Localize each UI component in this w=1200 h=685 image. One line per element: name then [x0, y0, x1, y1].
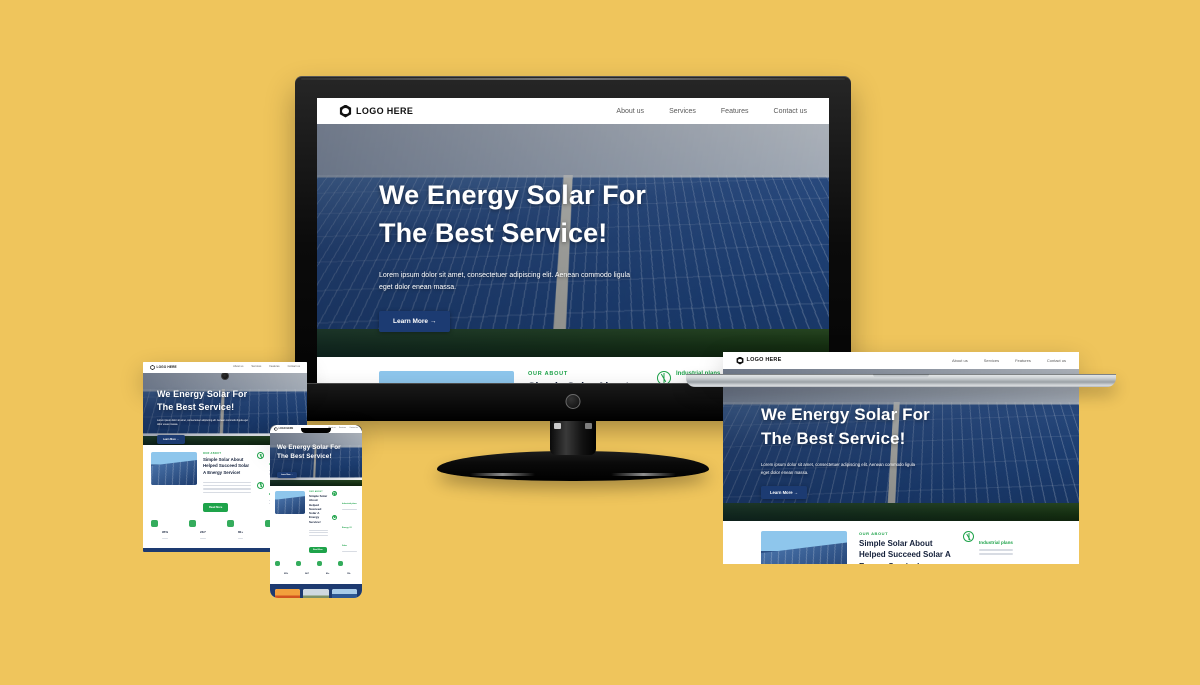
nav-link-about-us[interactable]: About us: [952, 359, 968, 363]
about-heading: Simple Solar About Helped Succeed Solar …: [859, 538, 951, 564]
laptop-lid: LOGO HERE About us Services Features Con…: [723, 352, 1079, 370]
monitor-bezel: LOGO HERE About us Services Features Con…: [295, 76, 851, 383]
card-image: [332, 589, 357, 598]
leaf-circle-icon: [657, 371, 671, 383]
site-brand[interactable]: LOGO HERE: [274, 427, 293, 431]
hero-heading-line-2: The Best Service!: [379, 214, 767, 252]
about-eyebrow: OUR ABOUT: [859, 531, 951, 536]
stat-item: 15k: [338, 561, 357, 579]
solar-panel-icon: [275, 561, 280, 566]
stat-value: 95%: [162, 530, 168, 534]
leaf-circle-icon: [332, 491, 337, 496]
leaf-circle-icon: [257, 482, 264, 489]
laptop-screen: LOGO HERE About us Services Features Con…: [723, 352, 1079, 564]
support-icon: [189, 520, 196, 527]
hero-heading-line-1: We Energy Solar For: [277, 444, 355, 453]
nav-links: About us Services Features Contact us: [616, 108, 807, 115]
about-image: [379, 371, 514, 383]
hero-section: We Energy Solar For The Best Service! Lo…: [317, 124, 829, 357]
about-feature-title: Energy Of Solar: [342, 527, 352, 547]
about-feature-item: Industrial plans: [963, 531, 1041, 557]
nav-link-services[interactable]: Services: [251, 366, 261, 369]
hero-heading: We Energy Solar For The Best Service!: [761, 403, 1041, 451]
leaf-circle-icon: [963, 531, 974, 542]
about-body-placeholder: [203, 482, 251, 493]
nav-link-contact-us[interactable]: Contact us: [774, 108, 807, 115]
hero-section: We Energy Solar For The Best Service! Le…: [270, 433, 362, 486]
monitor-screen: LOGO HERE About us Services Features Con…: [317, 98, 829, 383]
stats-strip: 95% 24/7 80+ 15k: [270, 561, 362, 584]
nav-link-features[interactable]: Features: [269, 366, 279, 369]
tablet-device: LOGO HERE About us Services Features Con…: [143, 362, 307, 383]
about-read-more-button[interactable]: Read More: [203, 503, 228, 512]
solar-panel-icon: [151, 520, 158, 527]
cards-band: Electrical Of Energy Energy Of Industria…: [270, 584, 362, 598]
nav-links: About us Services Contact us: [328, 428, 358, 430]
about-eyebrow: OUR ABOUT: [528, 371, 643, 377]
stat-item: 95%: [151, 520, 185, 541]
nav-link-about-us[interactable]: About us: [616, 108, 644, 115]
nav-links: About us Services Features Contact us: [233, 366, 300, 369]
stat-value: 24/7: [200, 530, 206, 534]
nav-link-contact-us[interactable]: Contact us: [288, 366, 300, 369]
content-card[interactable]: Electrical Of Energy: [275, 589, 300, 598]
hero-copy: We Energy Solar For The Best Service! Lo…: [723, 369, 1079, 499]
hero-heading-line-1: We Energy Solar For: [379, 176, 767, 214]
leaf-circle-icon: [257, 452, 264, 459]
phone-bezel: LOGO HERE About us Services Contact us: [270, 425, 362, 437]
hero-learn-more-button[interactable]: Learn More →: [761, 486, 807, 499]
hero-learn-more-button[interactable]: Learn More →: [157, 435, 185, 444]
about-eyebrow: OUR ABOUT: [309, 491, 328, 493]
site-navbar: LOGO HERE About us Services Features Con…: [723, 352, 1079, 369]
hero-paragraph: Lorem ipsum dolor sit amet, consectetuer…: [761, 461, 921, 476]
hero-learn-more-button[interactable]: Learn More →: [277, 472, 297, 478]
stat-item: 80+: [227, 520, 261, 541]
hero-paragraph: Lorem ipsum dolor sit amet, consectetuer…: [157, 419, 249, 427]
site-navbar: LOGO HERE About us Services Features Con…: [317, 98, 829, 124]
about-image: [761, 531, 847, 564]
hero-section: We Energy Solar For The Best Service! Lo…: [723, 369, 1079, 521]
brand-name: LOGO HERE: [157, 366, 177, 369]
content-card[interactable]: Designer Of Solar: [332, 589, 357, 598]
hero-heading-line-1: We Energy Solar For: [157, 388, 293, 401]
support-icon: [296, 561, 301, 566]
content-card[interactable]: Energy Of Industrial: [303, 589, 328, 598]
site-brand[interactable]: LOGO HERE: [736, 357, 781, 365]
about-feature-item: Industrial plans: [332, 491, 357, 512]
hero-heading: We Energy Solar For The Best Service!: [277, 444, 355, 462]
stat-item: 24/7: [296, 561, 315, 579]
stat-item: 24/7: [189, 520, 223, 541]
phone-screen: LOGO HERE About us Services Contact us: [270, 425, 362, 598]
hero-heading-line-2: The Best Service!: [277, 453, 355, 462]
about-feature-list: Industrial plans: [963, 531, 1041, 564]
hero-learn-more-button[interactable]: Learn More →: [379, 311, 450, 332]
monitor-stand-base: [437, 451, 709, 481]
smartphone-device: LOGO HERE About us Services Contact us: [270, 425, 362, 437]
about-eyebrow: OUR ABOUT: [203, 452, 251, 455]
about-feature-text: [979, 549, 1013, 555]
stat-item: 80+: [317, 561, 336, 579]
about-feature-title: Industrial plans: [979, 540, 1013, 545]
hexagon-logo-icon: [274, 427, 278, 431]
about-feature-list: Industrial plans Energy Of Solar: [332, 491, 357, 556]
about-body-placeholder: [309, 530, 328, 536]
hero-copy: We Energy Solar For The Best Service! Le…: [270, 433, 362, 480]
nav-link-contact-us[interactable]: Contact us: [1047, 359, 1066, 363]
hero-heading: We Energy Solar For The Best Service!: [157, 388, 293, 414]
nav-link-services[interactable]: Services: [984, 359, 999, 363]
tablet-bezel: LOGO HERE About us Services Features Con…: [143, 362, 307, 383]
mockup-stage: LOGO HERE About us Services Features Con…: [0, 0, 1200, 685]
hexagon-logo-icon: [150, 365, 155, 370]
about-section: OUR ABOUT Simple Solar About Helped Succ…: [270, 486, 362, 561]
hero-heading: We Energy Solar For The Best Service!: [379, 176, 767, 253]
site-brand[interactable]: LOGO HERE: [339, 105, 413, 118]
hexagon-logo-icon: [736, 357, 744, 365]
about-section: OUR ABOUT Simple Solar About Helped Succ…: [723, 521, 1079, 564]
stat-value: 95%: [284, 573, 288, 575]
card-image: [303, 589, 328, 598]
brand-name: LOGO HERE: [356, 107, 413, 116]
nav-link-about-us[interactable]: About us: [233, 366, 243, 369]
card-image: [275, 589, 300, 598]
hero-paragraph: Lorem ipsum dolor sit amet, consectetuer…: [379, 270, 631, 295]
nav-link-services[interactable]: Services: [339, 428, 346, 430]
about-heading: Simple Solar About Helped Succeed Solar …: [309, 494, 328, 524]
users-icon: [338, 561, 343, 566]
nav-link-services[interactable]: Services: [669, 108, 696, 115]
award-icon: [317, 561, 322, 566]
about-text: OUR ABOUT Simple Solar About Helped Succ…: [203, 452, 251, 513]
laptop-device: LOGO HERE About us Services Features Con…: [686, 352, 1116, 387]
about-image: [275, 491, 305, 514]
about-heading: Simple Solar About Helped Succeed Solar …: [203, 457, 251, 476]
nav-links: About us Services Features Contact us: [952, 359, 1066, 363]
hexagon-logo-icon: [339, 105, 352, 118]
hero-copy: We Energy Solar For The Best Service! Lo…: [317, 124, 829, 332]
about-read-more-button[interactable]: Read More: [309, 547, 327, 553]
stat-value: 80+: [326, 573, 330, 575]
phone-notch: [301, 428, 331, 433]
nav-link-contact-us[interactable]: Contact us: [349, 428, 358, 430]
about-feature-item: Energy Of Solar: [332, 515, 357, 554]
nav-link-features[interactable]: Features: [721, 108, 749, 115]
hero-heading-line-2: The Best Service!: [157, 401, 293, 414]
brand-name: LOGO HERE: [279, 428, 294, 430]
about-image: [151, 452, 197, 485]
brand-name: LOGO HERE: [747, 358, 782, 364]
power-button-icon[interactable]: [566, 394, 581, 409]
award-icon: [227, 520, 234, 527]
stat-value: 80+: [238, 530, 243, 534]
stat-item: 95%: [275, 561, 294, 579]
hero-heading-line-1: We Energy Solar For: [761, 403, 1041, 427]
about-text: OUR ABOUT Simple Solar About Helped Succ…: [309, 491, 328, 555]
site-brand[interactable]: LOGO HERE: [150, 365, 177, 370]
monitor-neck: [550, 421, 596, 455]
stat-value: 24/7: [305, 573, 309, 575]
about-feature-title: Industrial plans: [342, 503, 357, 505]
hero-heading-line-2: The Best Service!: [761, 427, 1041, 451]
site-navbar: LOGO HERE About us Services Features Con…: [143, 362, 307, 373]
stat-value: 15k: [347, 573, 350, 575]
about-text: OUR ABOUT Simple Solar About Helped Succ…: [859, 531, 951, 564]
nav-link-features[interactable]: Features: [1015, 359, 1031, 363]
leaf-circle-icon: [332, 515, 337, 520]
about-text: OUR ABOUT Simple Solar About Helped Succ…: [528, 371, 643, 383]
